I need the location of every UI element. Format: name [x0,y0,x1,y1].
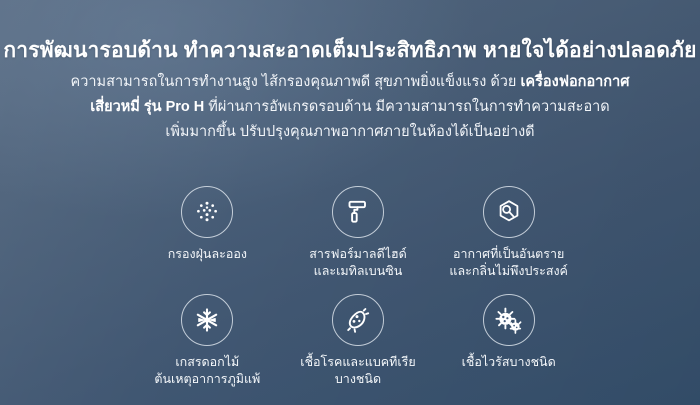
description-line-2-text: ที่ผ่านการอัพเกรดรอบด้าน มีความสามารถในก… [204,99,609,115]
feature-label-harmful-air: อากาศที่เป็นอันตราย และกลิ่นไม่พึงประสงค… [449,246,568,280]
feature-label-harmful-air-line1: อากาศที่เป็นอันตราย [453,247,564,261]
feature-item-virus: เชื้อไวรัสบางชนิด [433,294,584,402]
feature-item-pollen: เกสรดอกไม้ ต้นเหตุอาการภูมิแพ้ [132,294,283,402]
page-title: การพัฒนารอบด้าน ทำความสะอาดเต็มประสิทธิภ… [0,38,700,64]
molecule-magnifier-icon [483,186,535,238]
feature-grid: กรองฝุ่นละออง สารฟอร์มาลดีไฮด์ และเมทิลเ… [132,186,584,402]
bacteria-icon [332,294,384,346]
description-line-1-text: ความสามารถในการทำงานสูง ไส้กรองคุณภาพดี … [71,74,521,90]
feature-label-formaldehyde: สารฟอร์มาลดีไฮด์ และเมทิลเบนซิน [309,246,407,280]
feature-label-pollen: เกสรดอกไม้ ต้นเหตุอาการภูมิแพ้ [154,354,260,388]
paint-roller-icon [332,186,384,238]
feature-item-bacteria: เชื้อโรคและแบคทีเรีย บางชนิด [283,294,434,402]
feature-label-formaldehyde-line2: และเมทิลเบนซิน [309,263,407,280]
description-paragraph: ความสามารถในการทำงานสูง ไส้กรองคุณภาพดี … [36,70,664,145]
feature-label-dust-line1: กรองฝุ่นละออง [168,247,247,261]
feature-item-harmful-air: อากาศที่เป็นอันตราย และกลิ่นไม่พึงประสงค… [433,186,584,294]
virus-icon [483,294,535,346]
air-purifier-feature-poster: การพัฒนารอบด้าน ทำความสะอาดเต็มประสิทธิภ… [0,0,700,405]
description-line-1: ความสามารถในการทำงานสูง ไส้กรองคุณภาพดี … [36,70,664,95]
feature-label-dust: กรองฝุ่นละออง [168,246,247,263]
feature-label-virus: เชื้อไวรัสบางชนิด [462,354,556,371]
feature-label-formaldehyde-line1: สารฟอร์มาลดีไฮด์ [309,247,407,261]
feature-label-pollen-line2: ต้นเหตุอาการภูมิแพ้ [154,371,260,388]
description-line-2-emphasis: เสี่ยวหมี่ รุ่น Pro H [90,99,204,115]
feature-item-dust: กรองฝุ่นละออง [132,186,283,294]
dust-particles-icon [181,186,233,238]
description-line-3: เพิ่มมากขึ้น ปรับปรุงคุณภาพอากาศภายในห้อ… [36,120,664,145]
feature-label-bacteria-line2: บางชนิด [300,371,415,388]
feature-label-pollen-line1: เกสรดอกไม้ [175,355,239,369]
description-line-1-emphasis: เครื่องฟอกอากาศ [520,74,629,90]
feature-label-virus-line1: เชื้อไวรัสบางชนิด [462,355,556,369]
feature-label-bacteria-line1: เชื้อโรคและแบคทีเรีย [300,355,415,369]
pollen-icon [181,294,233,346]
feature-label-bacteria: เชื้อโรคและแบคทีเรีย บางชนิด [300,354,415,388]
feature-label-harmful-air-line2: และกลิ่นไม่พึงประสงค์ [449,263,568,280]
feature-item-formaldehyde: สารฟอร์มาลดีไฮด์ และเมทิลเบนซิน [283,186,434,294]
description-line-2: เสี่ยวหมี่ รุ่น Pro H ที่ผ่านการอัพเกรดร… [36,95,664,120]
